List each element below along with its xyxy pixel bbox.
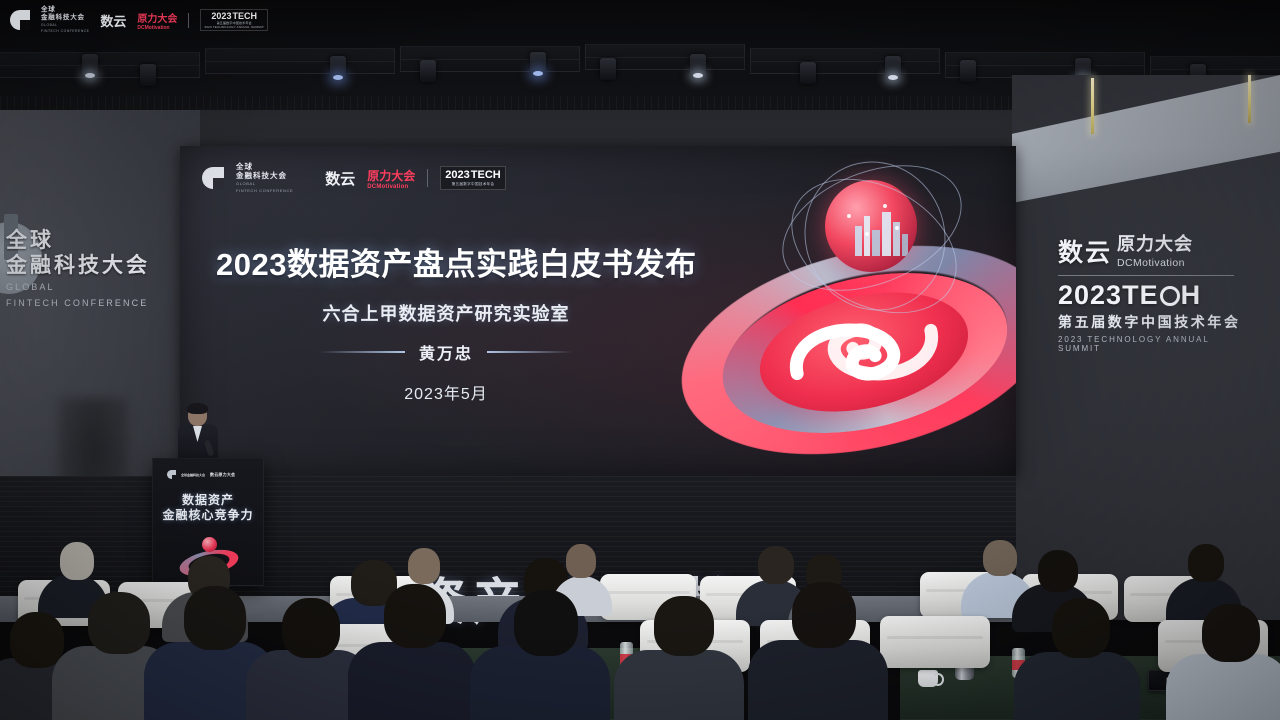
wall-light-strip [1091,78,1094,134]
right-wall-shuyun: 数云 [1058,233,1112,269]
left-wall-cn-line1: 全球 [6,228,186,253]
right-wall-signage: 数云 原力大会 DCMotivation 2023 TE H 第五届数字中国技术… [1058,230,1248,353]
watermark-gfc-cn1: 全球 [41,6,89,14]
slide-title: 2023数据资产盘点实践白皮书发布 [216,246,676,284]
screen-gfc-en1: GLOBAL [236,181,293,187]
podium-logo-alt: 数云原力大会 [210,472,235,478]
conference-hall-scene: 全球 金融科技大会 GLOBAL FINTECH CONFERENCE 数云 原… [0,0,1280,720]
right-wall-yuanli: 原力大会 [1117,230,1193,256]
watermark-gfc-en1: GLOBAL [41,23,89,28]
stage-light [690,54,706,76]
decorative-rule-right [487,351,573,353]
slide-presenter-name: 黄万忠 [419,340,473,364]
slide-organization: 六合上甲数据资产研究实验室 [216,300,676,326]
speaker-figure [176,404,220,466]
left-wall-en-line1: GLOBAL [6,281,186,294]
screen-tech-badge: 2023 TECH 第五届数字中国技术年会 [440,166,505,190]
slide-graphic-spiral-orbit [650,156,1016,476]
slide-date: 2023年5月 [216,380,676,404]
right-wall-tech-suffix: H [1181,280,1202,311]
stage-light [600,58,616,80]
screen-tech: TECH [471,169,501,181]
watermark-yuanli: 原力大会 [137,10,177,25]
watermark-tech: TECH [232,11,257,21]
watermark-gfc-cn2: 金融科技大会 [41,14,89,22]
watermark-dcmotivation: DCMotivation [137,25,177,31]
watermark-gfc-en2: FINTECH CONFERENCE [41,29,89,34]
right-wall-tech-prefix: TE [1122,280,1159,311]
screen-shuyun: 数云 [325,168,355,189]
screen-gfc-en2: FINTECH CONFERENCE [236,188,293,194]
podium-logos: 全球金融科技大会 数云原力大会 [167,470,235,479]
podium-line1: 数据资产 [153,493,263,508]
main-led-screen: 全球 金融科技大会 GLOBAL FINTECH CONFERENCE 数云 原… [180,146,1016,476]
tea-mug [918,670,938,687]
stage-light [420,60,436,82]
wall-light-strip [1248,75,1251,123]
watermark-tech-badge: 2023 TECH 第五届数字中国技术年会 2023 TECHNOLOGY AN… [200,9,268,31]
stage-light [960,60,976,82]
screen-dcmotivation: DCMotivation [367,184,415,190]
chair [880,616,990,668]
right-wall-year: 2023 [1058,280,1122,311]
broadcast-watermark: 全球 金融科技大会 GLOBAL FINTECH CONFERENCE 数云 原… [10,6,268,34]
slide-text-block: 2023数据资产盘点实践白皮书发布 六合上甲数据资产研究实验室 黄万忠 2023… [216,246,676,404]
podium-logo-icon [167,470,176,479]
stage-light [530,52,546,74]
divider [427,169,428,187]
screen-year: 2023 [445,169,469,181]
audience-area: 中国进出口银行 中信银行 中信银行 [0,520,1280,720]
podium-logo-cn: 全球金融科技大会 [181,473,205,477]
screen-badge-sub: 第五届数字中国技术年会 [452,182,495,187]
screen-gfc-cn2: 金融科技大会 [236,171,293,180]
divider [188,13,189,28]
left-wall-en-line2: FINTECH CONFERENCE [6,297,186,310]
stage-light [800,62,816,84]
screen-header-logos: 全球 金融科技大会 GLOBAL FINTECH CONFERENCE 数云 原… [202,162,506,194]
watermark-shuyun: 数云 [100,11,126,30]
right-wall-cn-summit: 第五届数字中国技术年会 [1058,312,1248,332]
stage-light [330,56,346,78]
screen-gfc-cn1: 全球 [236,162,293,171]
left-wall-cn-line2: 金融科技大会 [6,253,186,278]
decorative-rule-left [319,351,405,353]
fintech-logo-icon [10,10,30,30]
stage-light [82,54,98,76]
left-wall-signage: 全球 金融科技大会 GLOBAL FINTECH CONFERENCE [6,228,186,310]
right-wall-en-summit: 2023 TECHNOLOGY ANNUAL SUMMIT [1058,335,1248,353]
fintech-logo-icon [202,167,224,189]
screen-yuanli: 原力大会 [367,167,415,184]
watermark-badge-sub2: 2023 TECHNOLOGY ANNUAL SUMMIT [204,25,264,29]
watermark-year: 2023 [211,11,231,21]
right-wall-dcmotivation: DCMotivation [1117,257,1193,269]
stage-light [885,56,901,78]
divider [1058,275,1234,276]
at-symbol-icon [1160,286,1180,306]
stage-light [140,64,156,86]
